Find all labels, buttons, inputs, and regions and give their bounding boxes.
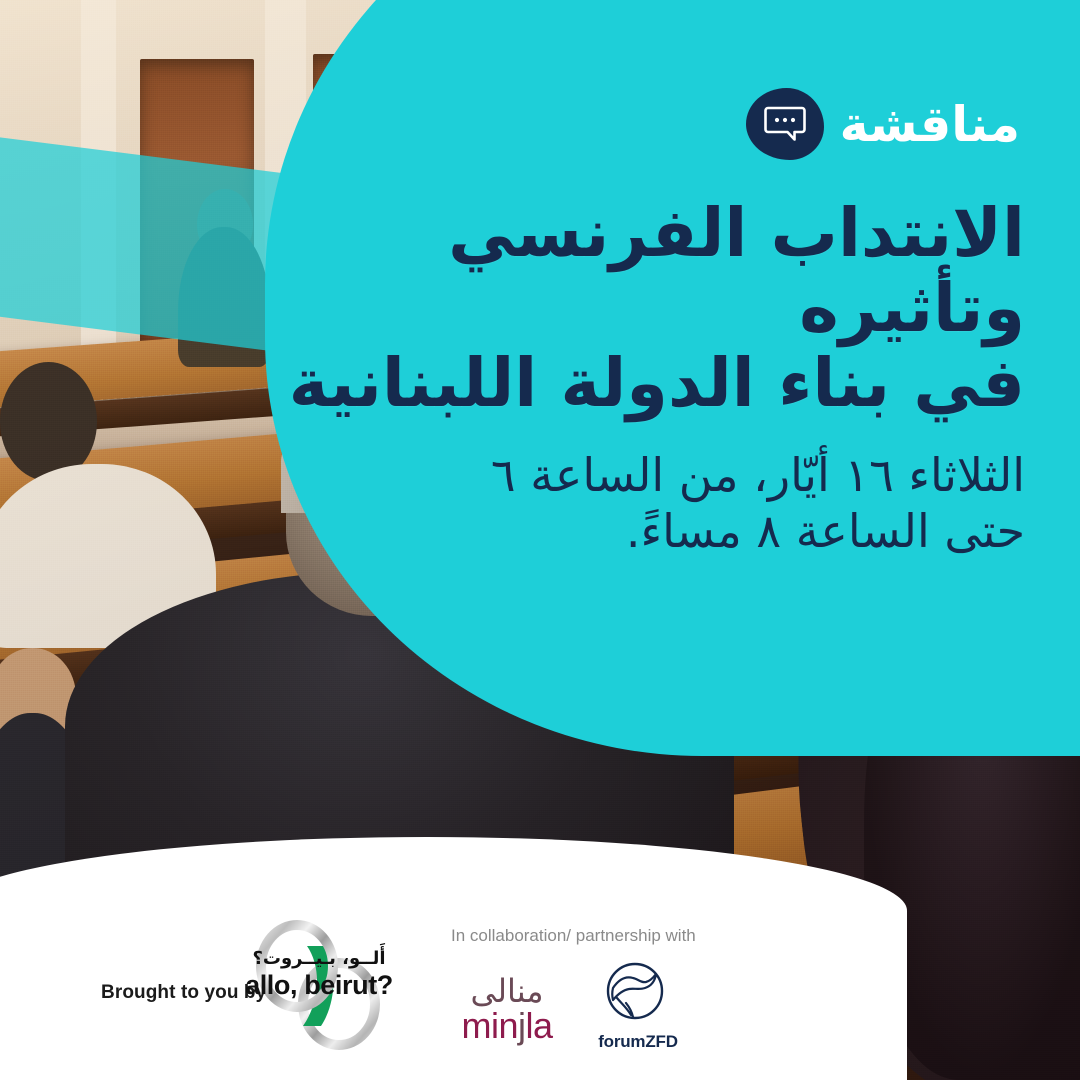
speech-bubble-icon (746, 88, 824, 160)
allo-beirut-arabic: أَلــو، بـيــروت؟ (229, 950, 409, 968)
allo-beirut-english: allo, beirut? (229, 972, 409, 999)
collaboration-label: In collaboration/ partnership with (451, 926, 696, 946)
event-title-line-1: الانتداب الفرنسي وتأثيره (285, 196, 1025, 346)
category-badge-label: مناقشة (840, 100, 1020, 149)
minjla-logo[interactable]: منالى minjla (443, 975, 571, 1044)
event-title: الانتداب الفرنسي وتأثيره في بناء الدولة … (285, 196, 1025, 421)
event-datetime-line-2: حتى الساعة ٨ مساءً. (285, 503, 1025, 559)
event-datetime: الثلاثاء ١٦ أيّار، من الساعة ٦ حتى الساع… (285, 447, 1025, 559)
forumzfd-logo[interactable]: forumZFD (582, 958, 694, 1052)
allo-beirut-logo[interactable]: أَلــو، بـيــروت؟ allo, beirut? (229, 918, 409, 1053)
event-poster: مناقشة الانتداب الفرنسي وتأثيره في بناء … (0, 0, 1080, 1080)
event-datetime-line-1: الثلاثاء ١٦ أيّار، من الساعة ٦ (285, 447, 1025, 503)
globe-dove-icon (582, 958, 694, 1028)
sponsors-footer: Brought to you by (0, 837, 907, 1080)
event-title-line-2: في بناء الدولة اللبنانية (285, 346, 1025, 421)
category-badge: مناقشة (746, 88, 1020, 160)
event-text-block: الانتداب الفرنسي وتأثيره في بناء الدولة … (285, 196, 1025, 559)
minjla-english-pre: min (461, 1005, 518, 1046)
minjla-english: minjla (443, 1008, 571, 1044)
forumzfd-label: forumZFD (582, 1032, 694, 1052)
minjla-arabic: منالى (443, 975, 571, 1007)
minjla-english-post: la (525, 1005, 552, 1046)
